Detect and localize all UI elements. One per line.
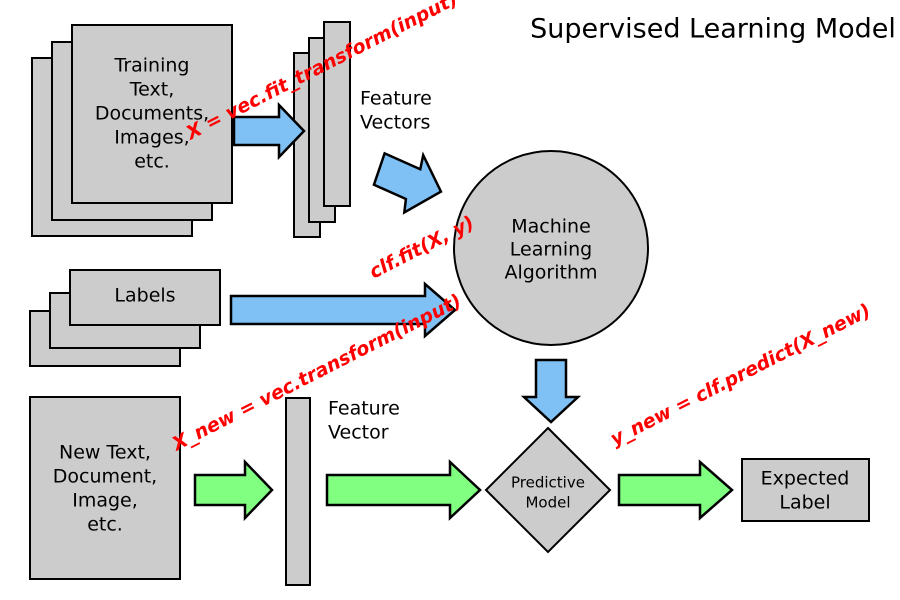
training-docs-line-2: Text,	[129, 79, 174, 101]
predictive-model-node: Predictive Model	[486, 428, 610, 552]
supervised-learning-diagram: Supervised Learning Model Training Text,…	[0, 0, 900, 600]
expected-label-node: Expected Label	[742, 459, 869, 521]
labels-doc-label: Labels	[114, 285, 175, 307]
ml-algorithm-line-3: Algorithm	[504, 262, 597, 284]
ml-algorithm-line-2: Learning	[510, 239, 593, 261]
training-docs-line-4: Images,	[114, 127, 189, 149]
feature-vector-label-line-2: Vector	[328, 422, 389, 444]
arrow-predictive-to-expectedlabel	[619, 462, 732, 518]
expected-label-line-2: Label	[779, 492, 830, 514]
expected-label-line-1: Expected	[761, 468, 850, 490]
page-title: Supervised Learning Model	[530, 14, 896, 45]
new-docs-line-4: etc.	[87, 514, 123, 536]
training-docs-line-5: etc.	[134, 151, 170, 173]
feature-vector-label-line-1: Feature	[328, 398, 400, 420]
arrow-newdocs-to-featurevector	[195, 462, 272, 518]
new-docs-line-1: New Text,	[59, 442, 151, 464]
new-docs-line-3: Image,	[72, 490, 138, 512]
new-docs-line-2: Document,	[53, 466, 157, 488]
annotation-clf-predict: y_new = clf.predict(X_new)	[607, 300, 875, 451]
new-documents-node: New Text, Document, Image, etc.	[30, 397, 180, 579]
predictive-model-line-2: Model	[525, 494, 570, 512]
labels-documents-stack: Labels	[30, 270, 220, 366]
new-documents-box	[30, 397, 180, 579]
training-docs-line-1: Training	[114, 55, 190, 77]
ml-algorithm-node: Machine Learning Algorithm	[454, 151, 648, 345]
diagram-canvas: Supervised Learning Model Training Text,…	[0, 0, 900, 600]
arrow-ml-to-predictive	[524, 360, 578, 422]
arrow-features-to-ml	[366, 141, 452, 223]
feature-vector-single-bar	[286, 398, 310, 585]
feature-vectors-label-line-2: Vectors	[360, 112, 430, 134]
ml-algorithm-line-1: Machine	[511, 216, 591, 238]
feature-vectors-label-line-1: Feature	[360, 88, 432, 110]
arrow-featurevector-to-predictive	[327, 462, 480, 518]
predictive-model-line-1: Predictive	[511, 474, 585, 492]
